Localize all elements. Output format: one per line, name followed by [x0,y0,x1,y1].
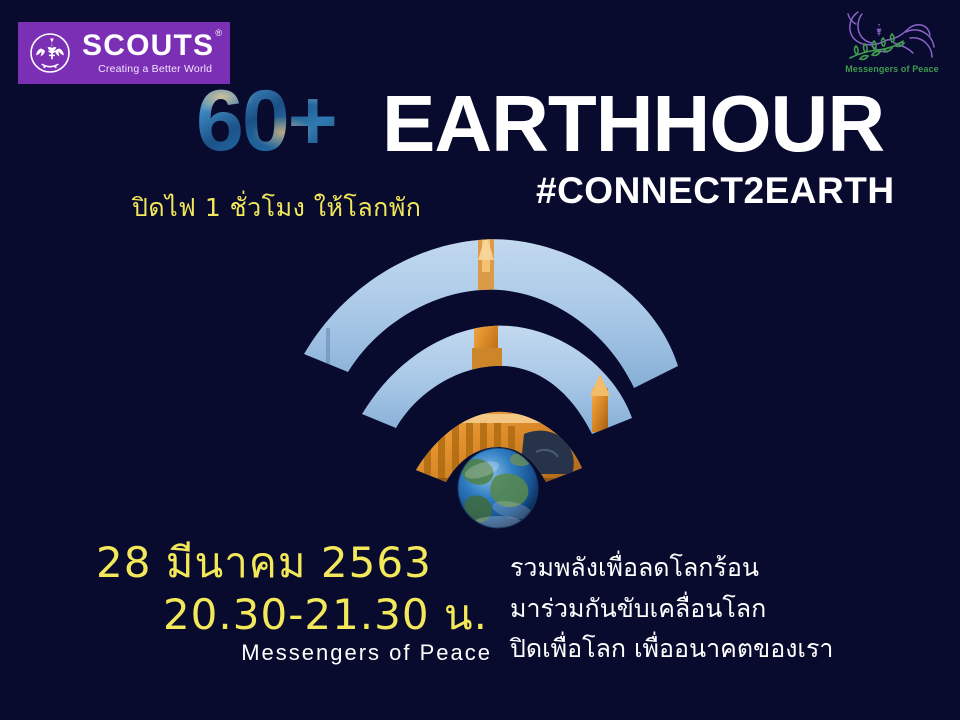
thai-tagline: ปิดไฟ 1 ชั่วโมง ให้โลกพัก [132,188,421,228]
event-signature: Messengers of Peace [96,640,506,666]
page-title: EARTHHOUR [382,84,884,164]
campaign-messages: รวมพลังเพื่อลดโลกร้อน มาร่วมกันขับเคลื่อ… [510,548,940,670]
registered-mark-icon: ® [215,29,223,38]
campaign-hashtag: #CONNECT2EARTH [536,172,895,209]
message-line-3: ปิดเพื่อโลก เพื่ออนาคตของเรา [510,629,940,670]
wifi-signal-icon [296,238,686,538]
message-line-2: มาร่วมกันขับเคลื่อนโลก [510,589,940,630]
sixty-plus-text: 60+ [196,73,336,169]
messengers-of-peace-logo: Messengers of Peace [832,2,952,88]
scouts-wordmark: SCOUTS® Creating a Better World [82,31,214,75]
event-time: 20.30-21.30 น. [96,592,506,638]
earth-hour-poster: SCOUTS® Creating a Better World [0,0,960,720]
dove-with-olive-branch-icon [832,2,952,68]
scouts-name: SCOUTS® [82,31,214,61]
messengers-of-peace-caption: Messengers of Peace [832,64,952,74]
fleur-de-lis-icon [28,31,72,75]
event-date: 28 มีนาคม 2563 [96,540,506,586]
scouts-name-text: SCOUTS [82,29,214,62]
sixty-plus-mark: 60+ [196,78,396,170]
earth-globe-icon [458,448,538,532]
message-line-1: รวมพลังเพื่อลดโลกร้อน [510,548,940,589]
event-details: 28 มีนาคม 2563 20.30-21.30 น. Messengers… [96,540,506,666]
